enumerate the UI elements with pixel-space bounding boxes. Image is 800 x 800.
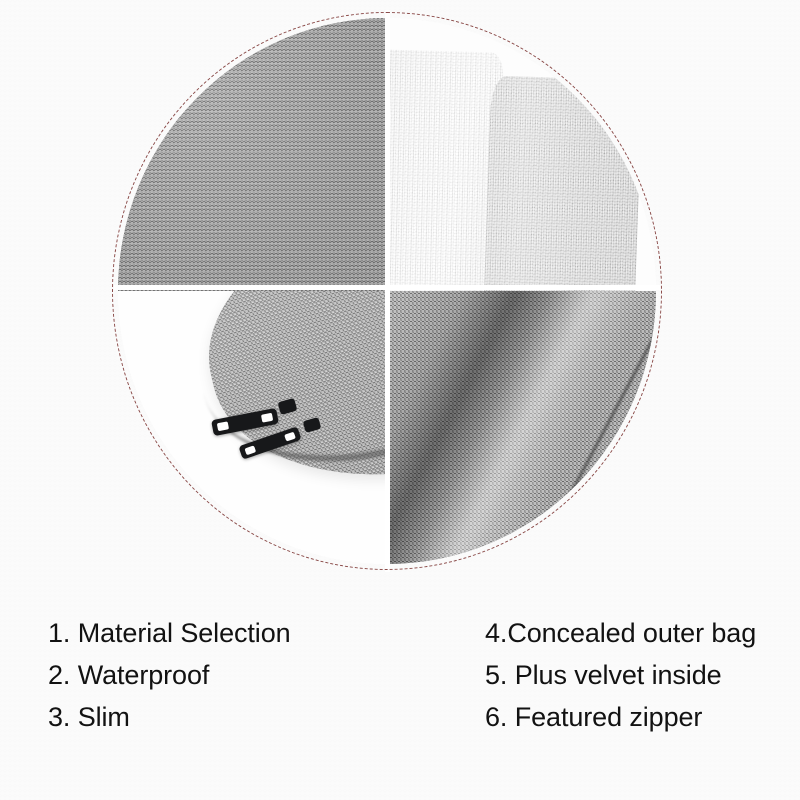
feature-item-3: 3. Slim (48, 696, 291, 738)
quadrant-zipper-pulls-photo (118, 291, 387, 564)
zipper-pull-tab-right-hole-a (244, 445, 256, 455)
product-feature-infographic: 1. Material Selection 2. Waterproof 3. S… (0, 0, 800, 800)
zipper-pull-tab-right-hole-b (284, 431, 296, 441)
quadrant-fabric-fold-photo (387, 291, 656, 564)
velvet-pile-texture-back (482, 75, 642, 291)
zipper-pull-tab-left-hole-b (261, 413, 273, 423)
feature-item-5: 5. Plus velvet inside (485, 654, 756, 696)
zipper-pull-tab-left-hole-a (217, 421, 229, 431)
feature-item-4: 4.Concealed outer bag (485, 612, 756, 654)
feature-item-6: 6. Featured zipper (485, 696, 756, 738)
quadrant-grey-woven-fabric-photo (118, 18, 387, 291)
collage-divider-horizontal (114, 285, 660, 290)
feature-list-left-column: 1. Material Selection 2. Waterproof 3. S… (48, 612, 291, 738)
feature-item-2: 2. Waterproof (48, 654, 291, 696)
feature-item-1: 1. Material Selection (48, 612, 291, 654)
velvet-sheet-back-layer (482, 75, 642, 291)
quadrant-white-velvet-lining-photo (387, 18, 656, 291)
grey-woven-fabric-texture (118, 18, 387, 291)
feature-list-right-column: 4.Concealed outer bag 5. Plus velvet ins… (485, 612, 756, 738)
collage-divider-vertical (385, 10, 390, 572)
feature-list: 1. Material Selection 2. Waterproof 3. S… (0, 612, 800, 800)
